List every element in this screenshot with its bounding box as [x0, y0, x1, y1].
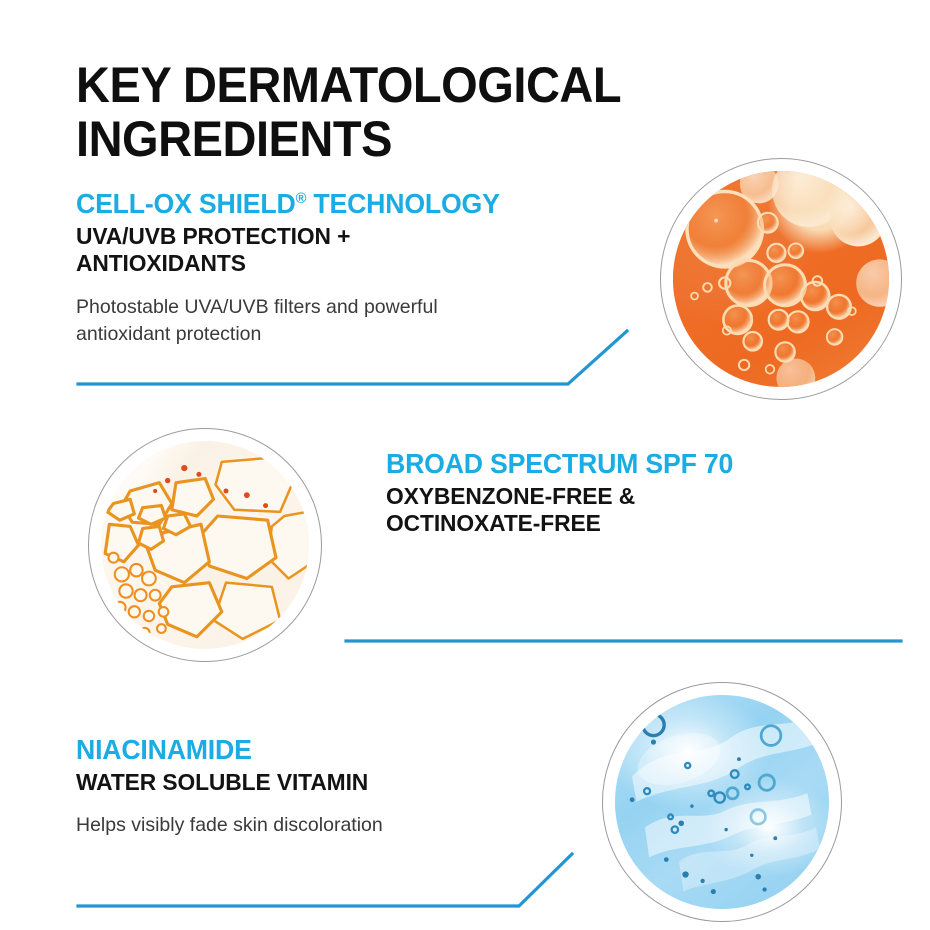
page-title: KEY DERMATOLOGICAL INGREDIENTS: [76, 58, 753, 166]
ingredient-image-inner: [101, 441, 309, 649]
ingredient-image-orange-oil-droplets: [660, 158, 902, 400]
eyebrow-suffix: TECHNOLOGY: [306, 188, 499, 219]
section-cell-ox-shield: CELL-OX SHIELD® TECHNOLOGY UVA/UVB PROTE…: [76, 188, 676, 349]
section-subhead-niacinamide: WATER SOLUBLE VITAMIN: [76, 769, 580, 796]
ingredient-image-inner: [615, 695, 829, 909]
section-body-niacinamide: Helps visibly fade skin discoloration: [76, 812, 596, 840]
infographic-root: KEY DERMATOLOGICAL INGREDIENTS CELL-OX S…: [0, 0, 930, 930]
cell-structure-art: [101, 441, 309, 649]
section-broad-spectrum-spf-70: BROAD SPECTRUM SPF 70 OXYBENZONE-FREE & …: [386, 448, 906, 538]
blue-water-gel-art: [615, 695, 829, 909]
registered-trademark-icon: ®: [296, 190, 307, 207]
section-body-cell-ox-shield: Photostable UVA/UVB filters and powerful…: [76, 294, 676, 349]
eyebrow-text: BROAD SPECTRUM SPF 70: [386, 448, 733, 479]
section-subhead-cell-ox-shield: UVA/UVB PROTECTION + ANTIOXIDANTS: [76, 223, 658, 278]
connector-line-niacinamide: [78, 854, 572, 906]
section-eyebrow-niacinamide: NIACINAMIDE: [76, 734, 580, 766]
eyebrow-text: CELL-OX SHIELD: [76, 188, 296, 219]
section-subhead-broad-spectrum-spf-70: OXYBENZONE-FREE & OCTINOXATE-FREE: [386, 483, 890, 538]
eyebrow-text: NIACINAMIDE: [76, 734, 252, 765]
ingredient-image-blue-water-gel: [602, 682, 842, 922]
orange-oil-droplets-art: [673, 171, 889, 387]
ingredient-image-cell-structure: [88, 428, 322, 662]
section-eyebrow-cell-ox-shield: CELL-OX SHIELD® TECHNOLOGY: [76, 188, 658, 220]
ingredient-image-inner: [673, 171, 889, 387]
section-niacinamide: NIACINAMIDE WATER SOLUBLE VITAMIN Helps …: [76, 734, 596, 840]
section-eyebrow-broad-spectrum-spf-70: BROAD SPECTRUM SPF 70: [386, 448, 890, 480]
